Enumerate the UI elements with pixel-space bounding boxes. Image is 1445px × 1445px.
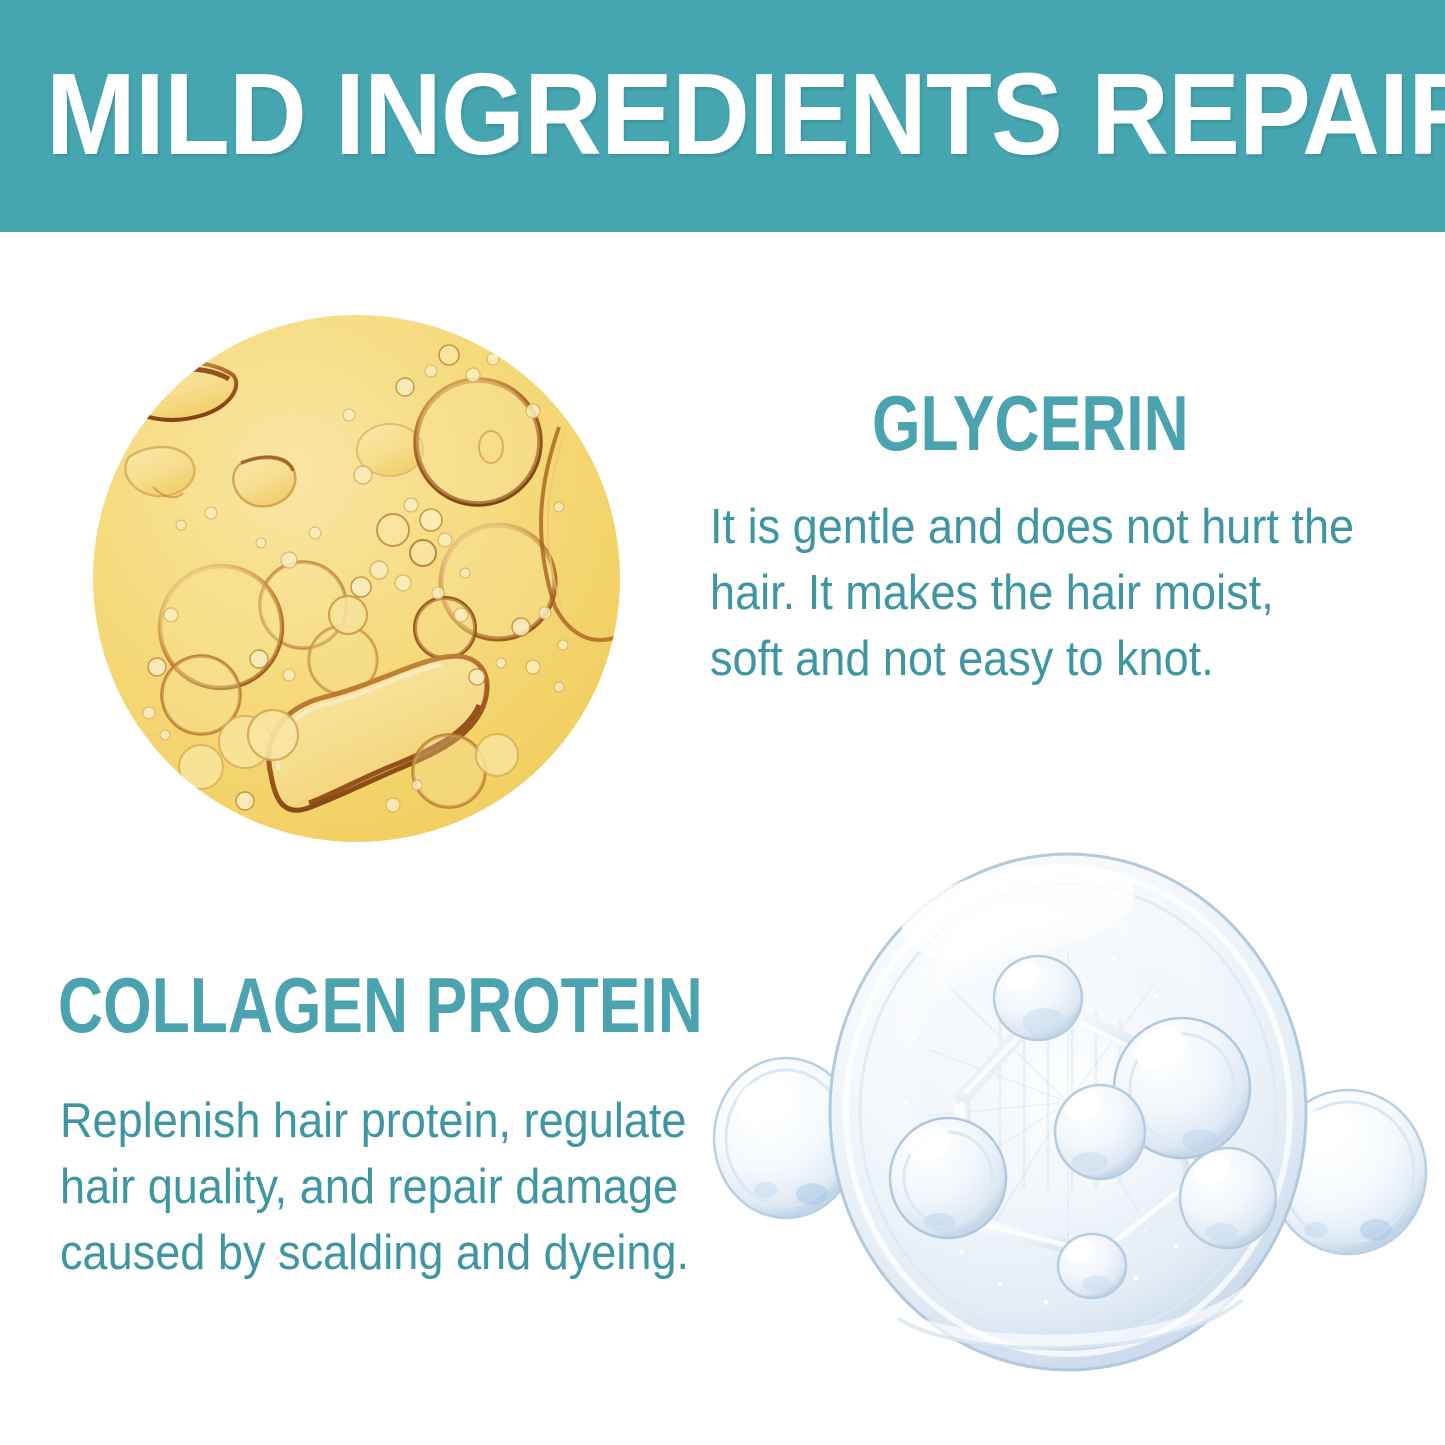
description-line: soft and not easy to knot. bbox=[710, 626, 1409, 692]
oil-droplets-circle-image bbox=[93, 315, 620, 842]
description-line: caused by scalding and dyeing. bbox=[60, 1220, 759, 1286]
description-line: Replenish hair protein, regulate bbox=[60, 1088, 759, 1154]
infographic-page: MILD INGREDIENTS REPAIR HAIR bbox=[0, 0, 1445, 1445]
description-line: hair. It makes the hair moist, bbox=[710, 560, 1409, 626]
description-line: hair quality, and repair damage bbox=[60, 1154, 759, 1220]
description-line: It is gentle and does not hurt the bbox=[710, 494, 1409, 560]
header-banner: MILD INGREDIENTS REPAIR HAIR bbox=[0, 0, 1445, 232]
page-title: MILD INGREDIENTS REPAIR HAIR bbox=[46, 56, 1329, 172]
molecule-bubble-sphere-image bbox=[700, 840, 1445, 1385]
ingredient-heading-collagen-protein: COLLAGEN PROTEIN bbox=[58, 966, 703, 1044]
ingredient-description-collagen-protein: Replenish hair protein, regulate hair qu… bbox=[60, 1088, 759, 1286]
ingredient-description-glycerin: It is gentle and does not hurt the hair.… bbox=[710, 494, 1409, 692]
ingredient-heading-glycerin: GLYCERIN bbox=[872, 384, 1189, 462]
